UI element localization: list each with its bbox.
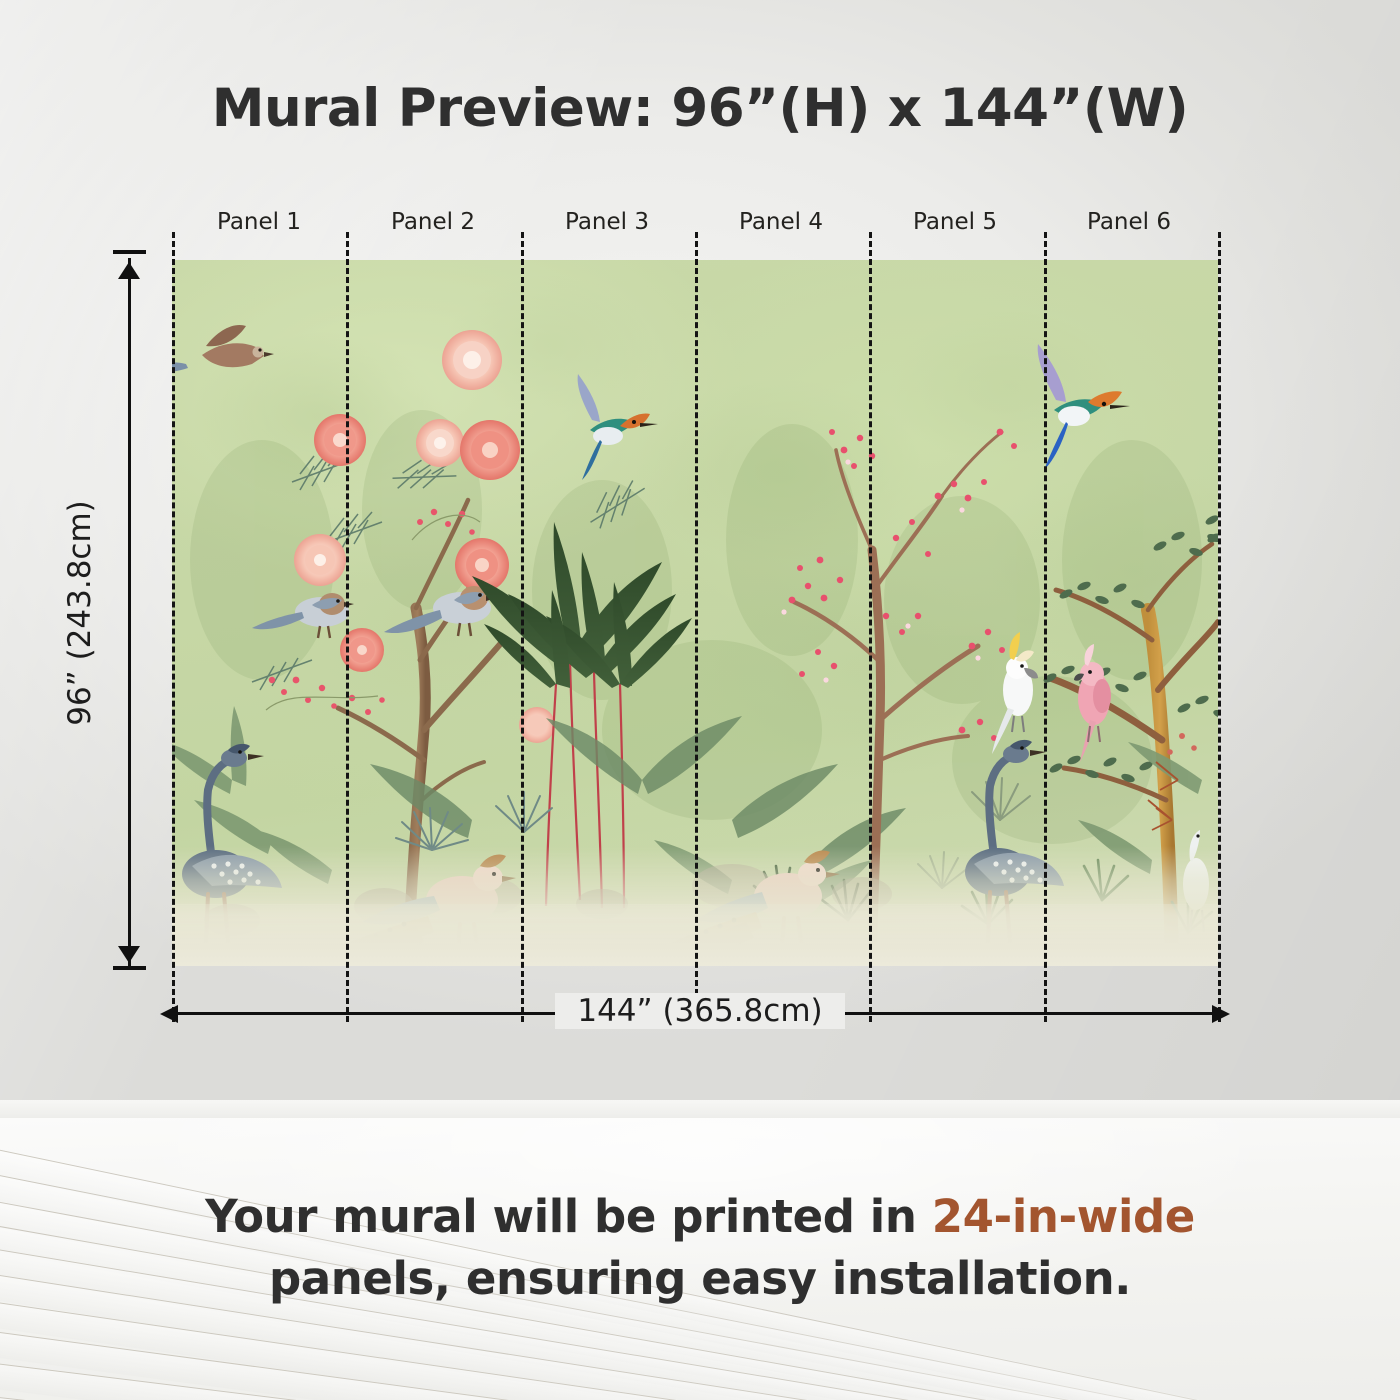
panel-label-6: Panel 6 <box>1042 209 1216 235</box>
caption-line-2: panels, ensuring easy installation. <box>0 1248 1400 1310</box>
width-dimension-text: 144” (365.8cm) <box>555 993 844 1029</box>
panel-label-4: Panel 4 <box>694 209 868 235</box>
height-dimension-line <box>128 258 131 968</box>
page-title: Mural Preview: 96”(H) x 144”(W) <box>0 78 1400 139</box>
panel-label-3: Panel 3 <box>520 209 694 235</box>
autumn-berries <box>1167 733 1197 755</box>
panel-split-6 <box>1218 232 1221 1022</box>
hummingbird-left <box>578 374 658 480</box>
flying-sparrow-bird <box>172 325 274 372</box>
panel-label-5: Panel 5 <box>868 209 1042 235</box>
panel-split-1 <box>346 232 349 1022</box>
caption-line1-pre: Your mural will be printed in <box>205 1190 932 1243</box>
mural-preview-screenshot: Mural Preview: 96”(H) x 144”(W) Panel 1P… <box>0 0 1400 1400</box>
height-arrow-up <box>118 262 140 279</box>
height-arrow-down <box>118 946 140 963</box>
panel-label-1: Panel 1 <box>172 209 346 235</box>
height-cap-bottom <box>113 966 146 970</box>
width-dimension-label: 144” (365.8cm) <box>0 993 1400 1029</box>
footer-caption: Your mural will be printed in 24-in-wide… <box>0 1186 1400 1310</box>
panel-split-2 <box>521 232 524 1022</box>
panel-label-2: Panel 2 <box>346 209 520 235</box>
panel-split-3 <box>695 232 698 1022</box>
panel-split-4 <box>869 232 872 1022</box>
panel-split-5 <box>1044 232 1047 1022</box>
caption-line-1: Your mural will be printed in 24-in-wide <box>0 1186 1400 1248</box>
panel-split-0 <box>172 232 175 1022</box>
height-cap-top <box>113 250 146 254</box>
caption-highlight: 24-in-wide <box>932 1190 1195 1243</box>
height-dimension-label: 96” (243.8cm) <box>62 453 98 773</box>
